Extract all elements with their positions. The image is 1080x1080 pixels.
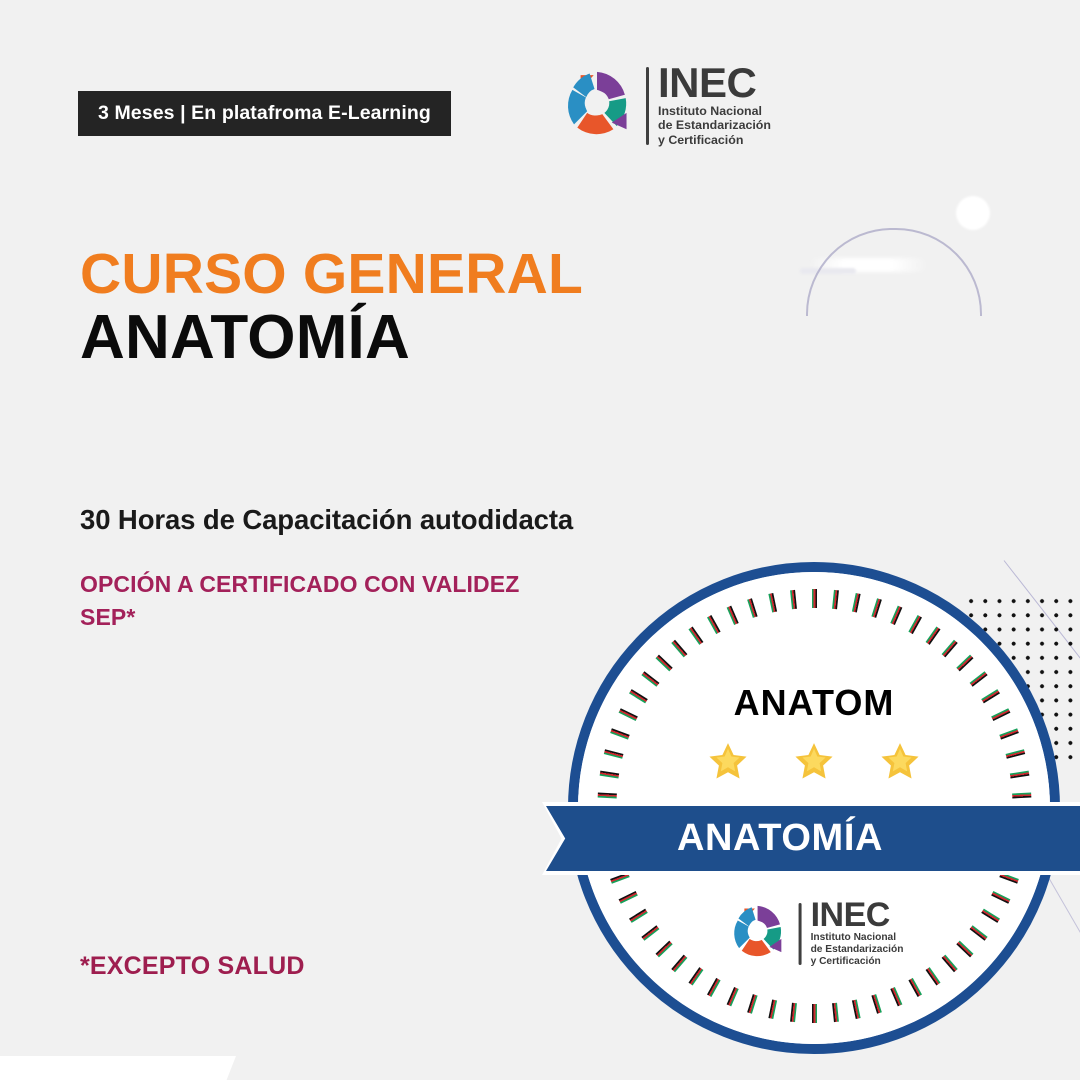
course-duration-pill: 3 Meses | En platafroma E-Learning bbox=[80, 93, 449, 134]
inec-acronym: INEC bbox=[658, 63, 771, 103]
seal-title-label: ANATOM bbox=[734, 682, 895, 724]
inec-subtitle-line-3: y Certificación bbox=[658, 133, 771, 148]
seal-ribbon-banner: ANATOMÍA bbox=[546, 806, 1080, 871]
logo-divider bbox=[646, 67, 649, 145]
course-hours-label: 30 Horas de Capacitación autodidacta bbox=[80, 504, 573, 536]
decorative-circle-icon bbox=[956, 196, 990, 230]
course-promo-poster: 3 Meses | En platafroma E-Learning INEC bbox=[0, 0, 1080, 1080]
star-icon bbox=[707, 740, 749, 782]
inec-subtitle-line-2: de Estandarización bbox=[811, 944, 904, 956]
inec-ring-icon bbox=[725, 898, 791, 969]
decorative-arc-icon bbox=[806, 228, 982, 316]
inec-subtitle-line-3: y Certificación bbox=[811, 956, 904, 968]
inec-acronym: INEC bbox=[811, 899, 904, 932]
headline-block: CURSO GENERAL ANATOMÍA bbox=[80, 245, 583, 371]
seal-star-rating bbox=[707, 740, 921, 782]
logo-divider bbox=[799, 903, 802, 965]
star-icon bbox=[793, 740, 835, 782]
inec-wordmark: INEC Instituto Nacional de Estandarizaci… bbox=[811, 899, 904, 968]
inec-logo-seal: INEC Instituto Nacional de Estandarizaci… bbox=[725, 898, 904, 969]
course-eyebrow-label: CURSO GENERAL bbox=[80, 245, 583, 303]
star-icon bbox=[879, 740, 921, 782]
ribbon-label: ANATOMÍA bbox=[677, 817, 949, 860]
certificate-option-label: OPCIÓN A CERTIFICADO CON VALIDEZ SEP* bbox=[80, 568, 520, 633]
inec-wordmark: INEC Instituto Nacional de Estandarizaci… bbox=[658, 63, 771, 147]
inec-logo-header: INEC Instituto Nacional de Estandarizaci… bbox=[556, 62, 771, 149]
inec-subtitle-line-1: Instituto Nacional bbox=[811, 932, 904, 944]
decorative-corner-band bbox=[0, 1056, 236, 1080]
course-duration-label: 3 Meses | En platafroma E-Learning bbox=[98, 102, 431, 125]
page-title: ANATOMÍA bbox=[80, 305, 583, 371]
inec-subtitle-line-2: de Estandarización bbox=[658, 118, 771, 133]
inec-ring-icon bbox=[556, 62, 638, 149]
inec-subtitle-line-1: Instituto Nacional bbox=[658, 104, 771, 119]
footnote-label: *EXCEPTO SALUD bbox=[80, 952, 305, 981]
